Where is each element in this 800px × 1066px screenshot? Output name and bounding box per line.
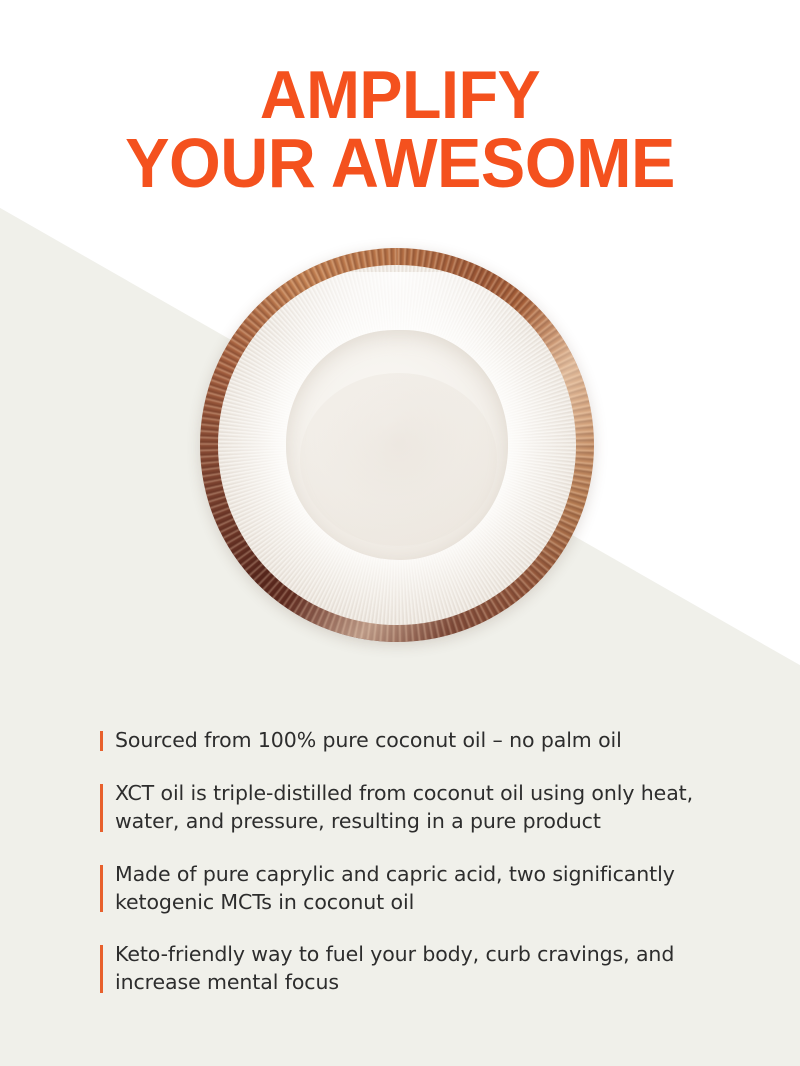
list-item: Made of pure caprylic and capric acid, t… (100, 861, 740, 917)
product-marketing-poster: AMPLIFY YOUR AWESOME Sourced from 100% p… (0, 0, 800, 1066)
bullet-text: Sourced from 100% pure coconut oil – no … (115, 727, 740, 755)
bullet-text: Keto-friendly way to fuel your body, cur… (115, 941, 740, 997)
bullet-bar-icon (100, 731, 103, 751)
list-item: XCT oil is triple-distilled from coconut… (100, 780, 740, 836)
bullet-bar-icon (100, 945, 103, 993)
coconut-flesh (218, 265, 576, 626)
list-item: Keto-friendly way to fuel your body, cur… (100, 941, 740, 997)
bullet-bar-icon (100, 865, 103, 913)
cavity-shading (300, 373, 497, 546)
coconut-image (200, 248, 594, 642)
coconut-husk-ring (200, 248, 594, 642)
list-item: Sourced from 100% pure coconut oil – no … (100, 727, 740, 755)
headline-line-1: AMPLIFY (20, 62, 780, 129)
feature-bullet-list: Sourced from 100% pure coconut oil – no … (100, 727, 740, 997)
headline-line-2: YOUR AWESOME (20, 129, 780, 198)
bullet-text: XCT oil is triple-distilled from coconut… (115, 780, 740, 836)
bullet-text: Made of pure caprylic and capric acid, t… (115, 861, 740, 917)
bullet-bar-icon (100, 784, 103, 832)
page-title: AMPLIFY YOUR AWESOME (20, 62, 780, 198)
